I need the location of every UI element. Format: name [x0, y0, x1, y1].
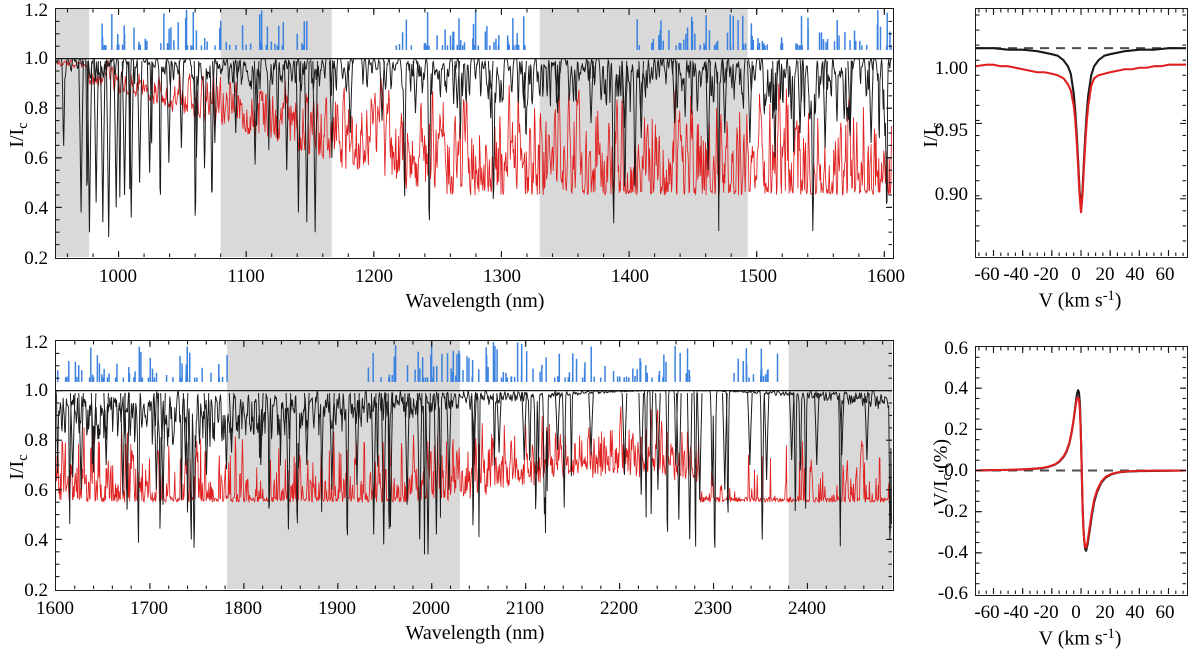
xaxis-title-top-right-sup: -1 — [1103, 288, 1115, 304]
panel-top-left-plotbox — [55, 8, 894, 259]
yaxis-title-top-right-sub: c — [929, 122, 945, 128]
yaxis-title-bottom-right-post: (%) — [930, 439, 952, 474]
panel-bottom-right: 0.6 0.4 0.2 -0.0 -0.2 -0.4 -0.6 -60 -40 … — [920, 330, 1200, 657]
xaxis-title-bottom-left-text: Wavelength (nm) — [406, 622, 545, 644]
yaxis-title-bottom-right-pre: V/I — [930, 480, 952, 507]
xtick-tl-0: 1000 — [78, 266, 158, 288]
ytick-tl-5: 1.2 — [0, 0, 48, 22]
deep-line-23 — [413, 61, 418, 113]
ytick-bl-5: 1.2 — [0, 332, 48, 354]
xtick-tl-4: 1400 — [590, 266, 670, 288]
deep-line-39 — [869, 61, 874, 143]
yaxis-title-top-right-pre: I/I — [920, 129, 942, 148]
deep-line-36 — [748, 393, 753, 465]
xtick-tl-2: 1200 — [334, 266, 414, 288]
xtick-tl-1: 1100 — [206, 266, 286, 288]
ytick-bl-1: 0.4 — [0, 530, 48, 552]
profile-trace-0 — [976, 48, 1186, 209]
deep-line-5 — [114, 61, 119, 207]
yaxis-title-bottom-left-pre: I/I — [6, 461, 28, 480]
xaxis-title-bottom-left: Wavelength (nm) — [275, 622, 675, 645]
ytick-br-1: -0.4 — [920, 542, 968, 564]
xaxis-title-top-right-post: ) — [1115, 289, 1122, 311]
spectrum-plot-top — [56, 9, 892, 257]
yaxis-title-bottom-left-sub: c — [15, 454, 31, 460]
panel-top-left: 1.2 1.0 0.8 0.6 0.4 0.2 1000 1100 1200 1… — [0, 0, 910, 310]
xaxis-title-top-right-pre: V (km s — [1039, 289, 1103, 311]
deep-line-10 — [167, 61, 172, 163]
profile-trace-1 — [976, 397, 1186, 547]
ytick-br-0: -0.6 — [920, 583, 968, 605]
xtick-br-6: 60 — [1140, 602, 1190, 624]
stokes-v-profile-plot — [976, 347, 1186, 594]
xtick-bl-2: 1800 — [203, 598, 283, 620]
panel-top-right: 1.00 0.95 0.90 -60 -40 -20 0 20 40 60 V … — [920, 0, 1200, 310]
xtick-bl-4: 2000 — [391, 598, 471, 620]
xtick-bl-0: 1600 — [15, 598, 95, 620]
yaxis-title-top-left-pre: I/I — [6, 129, 28, 148]
deep-line-35 — [723, 393, 728, 490]
xtick-bl-8: 2400 — [767, 598, 847, 620]
figure-root: 1.2 1.0 0.8 0.6 0.4 0.2 1000 1100 1200 1… — [0, 0, 1200, 657]
xaxis-title-bottom-right-pre: V (km s — [1039, 627, 1103, 649]
yaxis-title-bottom-left: I/Ic — [6, 432, 32, 502]
ytick-br-6: 0.6 — [920, 338, 968, 360]
xtick-bl-7: 2300 — [673, 598, 753, 620]
panel-bottom-left-plotbox — [55, 340, 894, 591]
stokes-i-profile-plot — [976, 9, 1186, 256]
yaxis-title-top-left-sub: c — [15, 122, 31, 128]
ytick-bl-4: 1.0 — [0, 380, 48, 402]
ytick-tl-0: 0.2 — [0, 248, 48, 270]
shaded-band-1 — [789, 341, 892, 589]
xaxis-title-bottom-right-post: ) — [1115, 627, 1122, 649]
deep-line-3 — [101, 61, 106, 222]
ytick-br-5: 0.4 — [920, 378, 968, 400]
xtick-tl-6: 1600 — [846, 266, 926, 288]
deep-line-37 — [823, 61, 828, 148]
xtick-tl-3: 1300 — [462, 266, 542, 288]
xtick-bl-5: 2100 — [485, 598, 565, 620]
yaxis-title-bottom-right: V/Ic (%) — [930, 418, 956, 528]
ytick-tl-4: 1.0 — [0, 48, 48, 70]
xtick-tr-6: 60 — [1140, 264, 1190, 286]
yaxis-title-bottom-right-sub: c — [939, 474, 955, 480]
xaxis-title-top-right: V (km s-1) — [980, 288, 1180, 312]
ytick-tr-0: 0.90 — [920, 184, 968, 206]
panel-bottom-right-plotbox — [975, 346, 1188, 596]
panel-bottom-left: 1.2 1.0 0.8 0.6 0.4 0.2 1600 1700 1800 1… — [0, 330, 910, 657]
yaxis-title-top-right: I/Ic — [920, 100, 946, 170]
deep-line-37 — [764, 393, 769, 480]
profile-trace-1 — [976, 65, 1186, 213]
xaxis-title-bottom-right-sup: -1 — [1103, 626, 1115, 642]
deep-line-6 — [122, 61, 127, 195]
ytick-tr-2: 1.00 — [920, 58, 968, 80]
xtick-bl-3: 1900 — [297, 598, 377, 620]
panel-top-right-plotbox — [975, 8, 1188, 258]
xaxis-title-bottom-right: V (km s-1) — [980, 626, 1180, 650]
shaded-band-0 — [56, 9, 89, 257]
spectrum-plot-bottom — [56, 341, 892, 589]
deep-line-4 — [106, 61, 111, 237]
xtick-bl-6: 2200 — [579, 598, 659, 620]
yaxis-title-top-left: I/Ic — [6, 100, 32, 170]
xaxis-title-top-left: Wavelength (nm) — [275, 290, 675, 313]
xtick-tl-5: 1500 — [718, 266, 798, 288]
ytick-tl-1: 0.4 — [0, 198, 48, 220]
xtick-bl-1: 1700 — [109, 598, 189, 620]
xaxis-title-top-left-text: Wavelength (nm) — [406, 290, 545, 312]
